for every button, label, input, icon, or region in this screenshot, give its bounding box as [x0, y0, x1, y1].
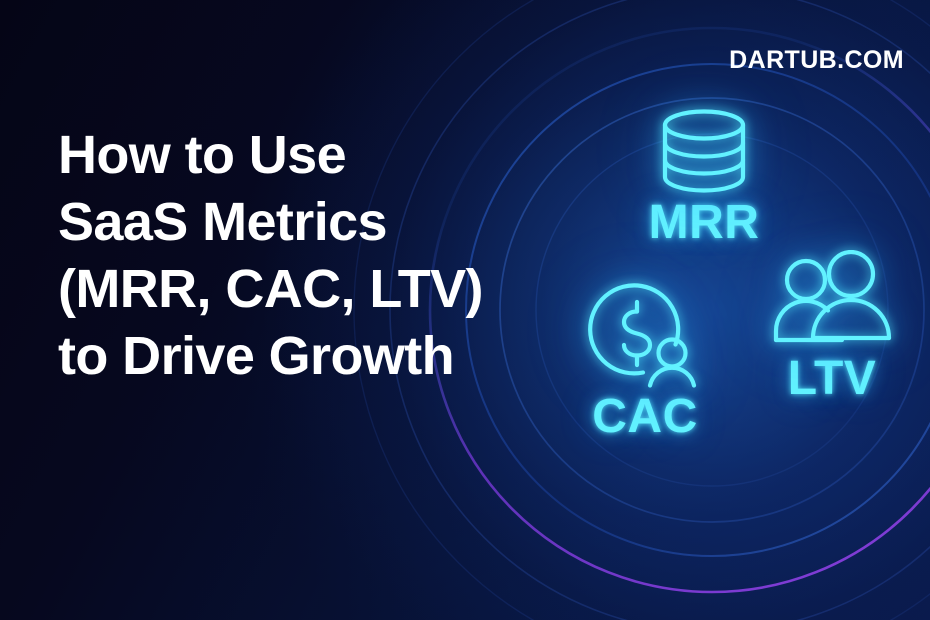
title-line-2: SaaS Metrics: [58, 189, 528, 256]
metrics-cluster: MRR CAC: [530, 60, 930, 480]
title-line-1: How to Use: [58, 122, 528, 189]
metric-ltv-label: LTV: [742, 352, 922, 406]
two-users-icon: [770, 250, 894, 352]
metric-ltv: LTV: [742, 250, 922, 406]
metric-cac: CAC: [550, 278, 740, 444]
title-line-3: (MRR, CAC, LTV): [58, 256, 528, 323]
dollar-circle-person-icon: [580, 278, 710, 390]
page-title: How to Use SaaS Metrics (MRR, CAC, LTV) …: [58, 122, 528, 390]
metric-mrr: MRR: [604, 108, 804, 250]
title-line-4: to Drive Growth: [58, 323, 528, 390]
database-stack-icon: [654, 108, 754, 194]
poster-canvas: DARTUB.COM How to Use SaaS Metrics (MRR,…: [0, 0, 930, 620]
metric-mrr-label: MRR: [604, 196, 804, 250]
metric-cac-label: CAC: [550, 390, 740, 444]
